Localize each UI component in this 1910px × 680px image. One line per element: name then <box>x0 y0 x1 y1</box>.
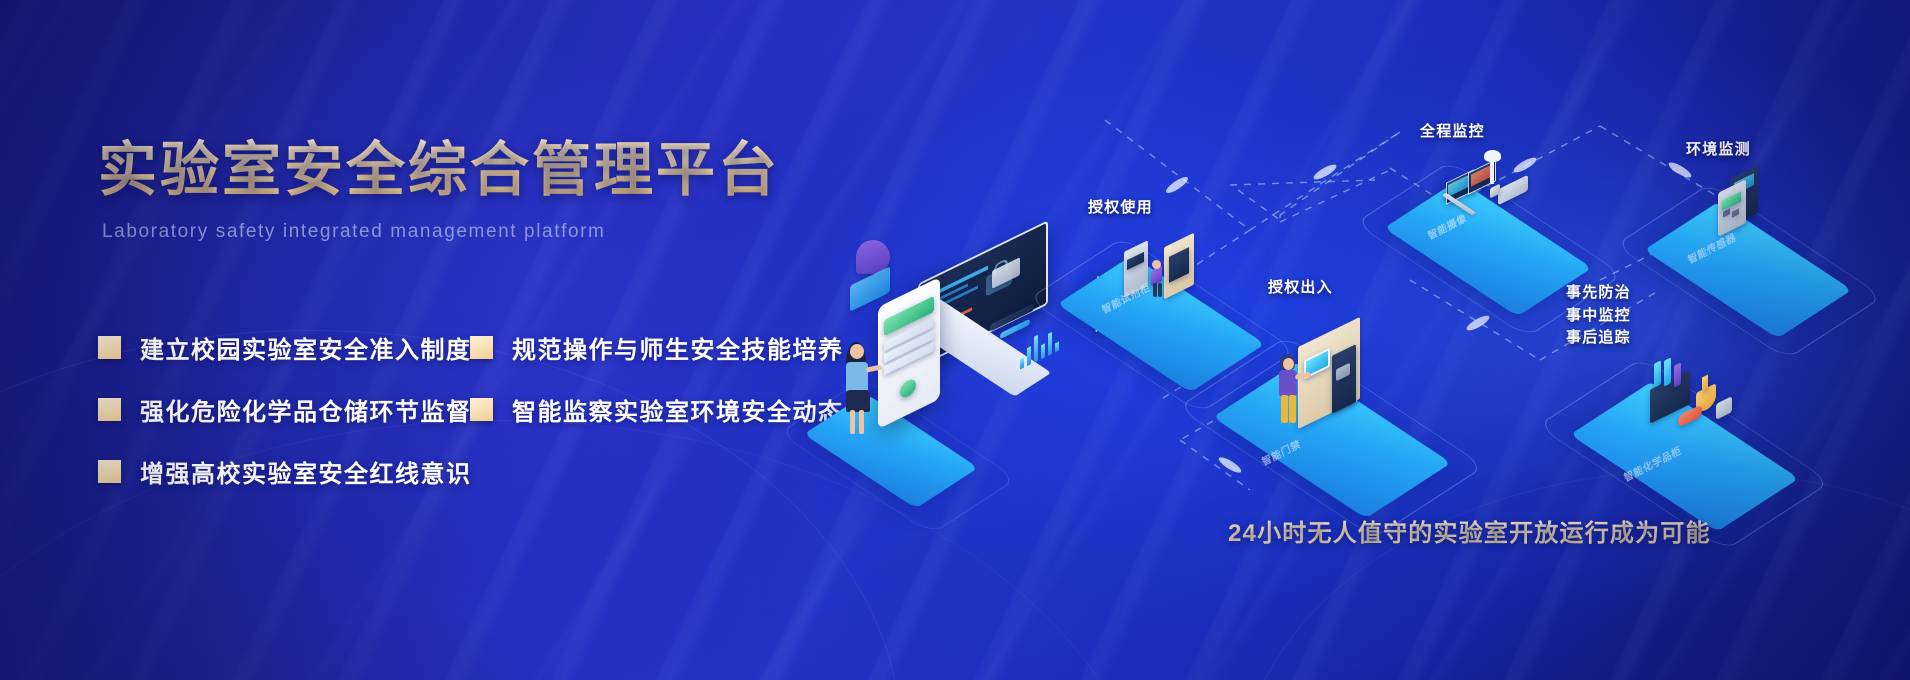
node-label: 授权出入 <box>1268 278 1333 298</box>
feature-label: 建立校园实验室安全准入制度 <box>140 330 472 365</box>
feature-label: 强化危险化学品仓储环节监督 <box>140 392 472 427</box>
test-tube <box>1674 362 1681 387</box>
feature-item-3: 增强高校实验室安全红线意识 <box>98 454 470 489</box>
feature-label: 规范操作与师生安全技能培养 <box>512 330 844 365</box>
node-label: 全程监控 <box>1420 122 1485 142</box>
test-tube <box>1654 360 1661 387</box>
feature-item-2: 强化危险化学品仓储环节监督 <box>98 392 470 427</box>
annotation-line: 事后追踪 <box>1566 327 1631 350</box>
person-torso <box>846 362 868 392</box>
person-head <box>1283 358 1294 370</box>
feature-item-5: 智能监察实验室环境安全动态 <box>470 392 844 427</box>
person-leg <box>859 410 864 434</box>
footer-caption: 24小时无人值守的实验室开放运行成为可能 <box>1228 513 1711 548</box>
screen-line <box>932 266 988 297</box>
person-leg <box>850 410 855 434</box>
page-title: 实验室安全综合管理平台 <box>98 138 1018 203</box>
camera-dome-icon <box>1484 150 1501 162</box>
square-bullet-icon <box>98 398 121 421</box>
square-bullet-icon <box>98 336 121 359</box>
annotation-line: 事先防治 <box>1566 282 1631 305</box>
node-label: 环境监测 <box>1686 140 1751 160</box>
flask-neck <box>1702 375 1708 392</box>
banner-stage: 实验室安全综合管理平台 Laboratory safety integrated… <box>0 0 1910 680</box>
person-head <box>1152 260 1161 269</box>
square-bullet-icon <box>98 460 121 483</box>
phone-button <box>900 377 916 401</box>
annotation-line: 事中监控 <box>1566 305 1631 328</box>
person-head <box>850 344 864 359</box>
person-skirt <box>846 390 870 412</box>
node-label: 授权使用 <box>1088 198 1153 218</box>
person-leg <box>1153 283 1157 297</box>
square-bullet-icon <box>470 398 493 421</box>
feature-item-4: 规范操作与师生安全技能培养 <box>470 330 844 365</box>
feature-item-1: 建立校园实验室安全准入制度 <box>98 330 470 365</box>
annotation-prevention: 事先防治 事中监控 事后追踪 <box>1566 282 1631 350</box>
person-torso <box>1279 370 1297 396</box>
headline-block: 实验室安全综合管理平台 Laboratory safety integrated… <box>98 138 1018 243</box>
page-subtitle: Laboratory safety integrated management … <box>102 221 1018 243</box>
person-leg <box>1281 395 1288 423</box>
square-bullet-icon <box>470 336 493 359</box>
person-leg <box>1289 395 1296 423</box>
test-tube <box>1664 357 1671 386</box>
feature-label: 增强高校实验室安全红线意识 <box>140 454 472 489</box>
person-leg <box>1158 283 1162 297</box>
